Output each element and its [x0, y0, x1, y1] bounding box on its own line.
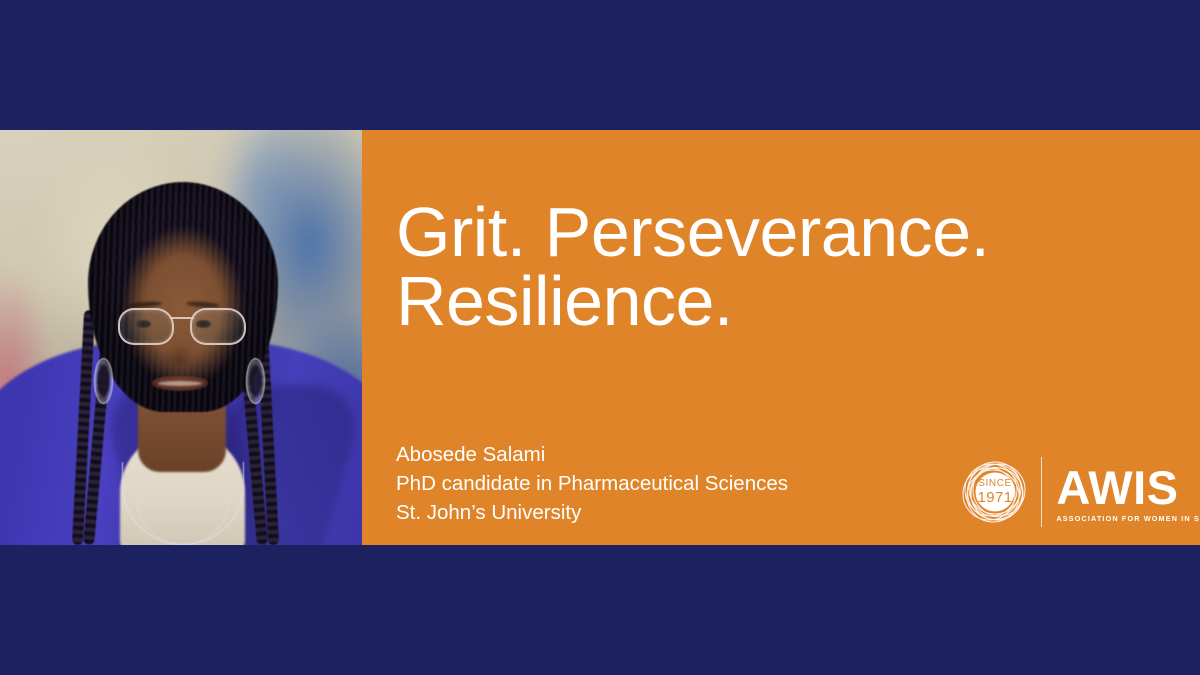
lens-right [190, 308, 246, 345]
portrait-photo [0, 130, 362, 545]
person-name: Abosede Salami [396, 440, 788, 469]
lens-left [118, 308, 174, 345]
earring-left [94, 358, 113, 404]
mouth [152, 376, 208, 391]
headline-text: Grit. Perseverance. Resilience. [396, 198, 1156, 337]
awis-wordmark: AWIS [1056, 464, 1200, 511]
awis-logo-lockup: SINCE 1971 AWIS ASSOCIATION FOR WOMEN IN… [955, 450, 1180, 534]
awis-wordmark-block: AWIS ASSOCIATION FOR WOMEN IN SCIENCE [1056, 462, 1200, 522]
content-panel: Grit. Perseverance. Resilience. Abosede … [362, 130, 1200, 545]
awis-tagline: ASSOCIATION FOR WOMEN IN SCIENCE [1056, 515, 1200, 522]
logo-divider [1041, 457, 1042, 527]
earring-right [246, 358, 265, 404]
person-organization: St. John’s University [396, 498, 788, 527]
banner-canvas: Grit. Perseverance. Resilience. Abosede … [0, 0, 1200, 675]
attribution-block: Abosede Salami PhD candidate in Pharmace… [396, 440, 788, 527]
eyeglasses [118, 308, 246, 342]
nose [162, 344, 196, 366]
since-1971-seal-icon: SINCE 1971 [955, 452, 1035, 532]
person-role: PhD candidate in Pharmaceutical Sciences [396, 469, 788, 498]
